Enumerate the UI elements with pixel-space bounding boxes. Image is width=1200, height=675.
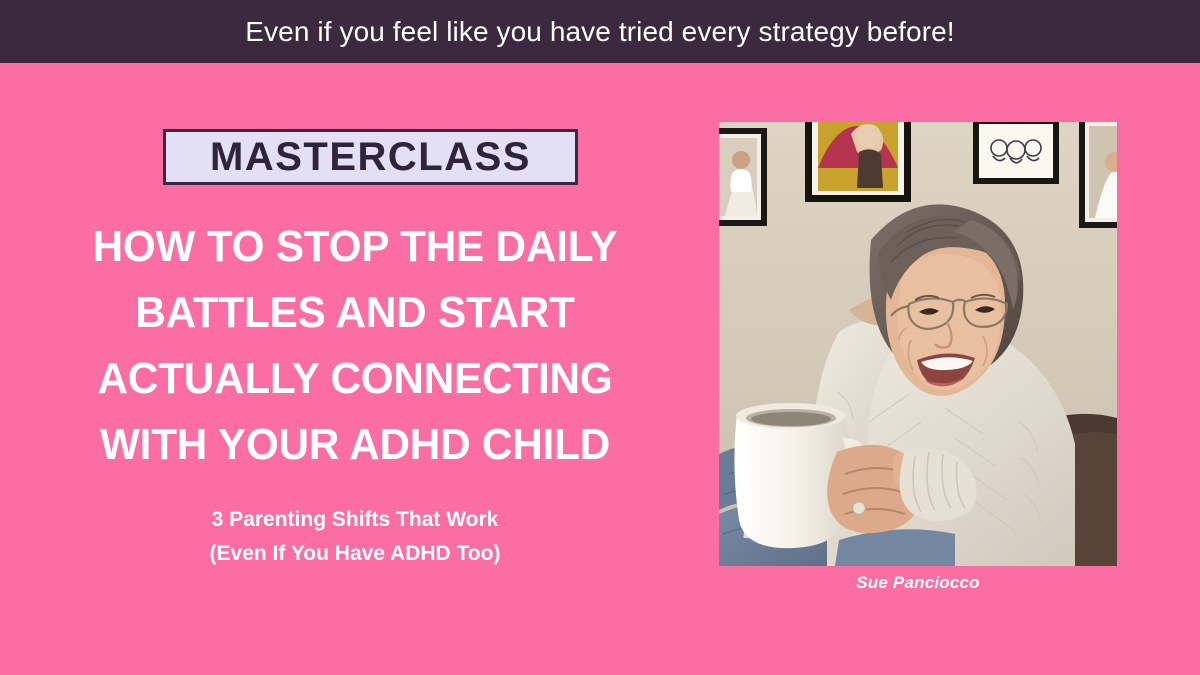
subheadline-line-1: 3 Parenting Shifts That Work <box>30 503 680 537</box>
top-banner-text: Even if you feel like you have tried eve… <box>245 18 954 46</box>
masterclass-badge-label: MASTERCLASS <box>210 137 531 177</box>
headline-line-4: WITH YOUR ADHD CHILD <box>43 412 667 478</box>
subheadline: 3 Parenting Shifts That Work (Even If Yo… <box>30 503 680 571</box>
headline-line-1: HOW TO STOP THE DAILY <box>43 214 667 280</box>
headline-line-3: ACTUALLY CONNECTING <box>43 346 667 412</box>
headline-line-2: BATTLES AND START <box>43 280 667 346</box>
speaker-photo <box>719 122 1117 566</box>
masterclass-badge: MASTERCLASS <box>163 129 578 185</box>
speaker-photo-illustration <box>719 122 1117 566</box>
masterclass-promo-slide: Even if you feel like you have tried eve… <box>0 0 1200 675</box>
top-banner: Even if you feel like you have tried eve… <box>0 0 1200 63</box>
subheadline-line-2: (Even If You Have ADHD Too) <box>30 537 680 571</box>
headline: HOW TO STOP THE DAILY BATTLES AND START … <box>43 214 667 478</box>
left-content-column: MASTERCLASS HOW TO STOP THE DAILY BATTLE… <box>0 63 700 675</box>
speaker-name-caption: Sue Panciocco <box>719 572 1117 594</box>
